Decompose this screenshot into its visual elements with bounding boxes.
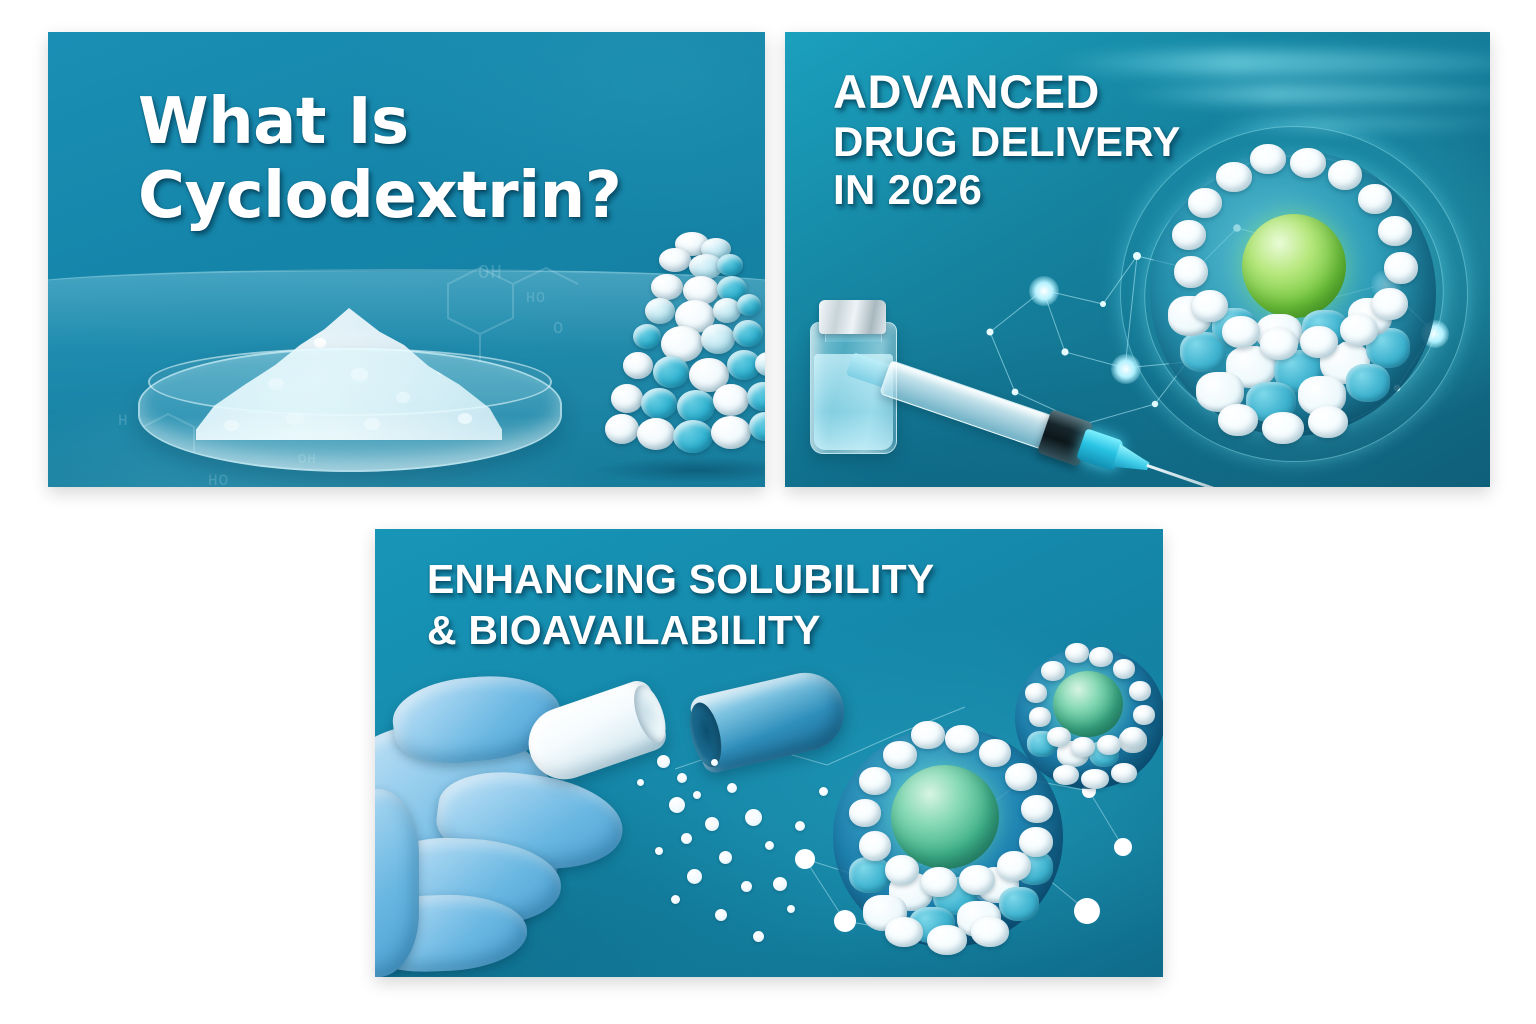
cage-rim-knob: [1021, 795, 1053, 823]
cage-rim-knob: [859, 831, 891, 861]
cage-rim-knob: [1300, 326, 1338, 358]
powder-granule: [657, 755, 670, 768]
powder-granule: [819, 787, 828, 796]
cage-rim-knob: [1121, 727, 1145, 747]
cage-rim-knob: [911, 721, 945, 749]
cage-rim-knob: [1129, 681, 1151, 701]
panel-enhancing-solubility[interactable]: ENHANCING SOLUBILITY & BIOAVAILABILITY: [375, 529, 1163, 977]
cage-base-knob: [971, 917, 1009, 947]
cage-rim-knob: [1133, 705, 1155, 725]
cage-rim-knob: [1372, 288, 1408, 320]
cage-rim-knob: [1188, 188, 1222, 218]
petri-dish: [138, 320, 558, 472]
powder-granule: [687, 869, 702, 884]
cage-base-knob: [1218, 404, 1258, 436]
cage-rim-knob: [849, 799, 881, 827]
cage-base-knob: [1111, 763, 1137, 783]
cage-rim-knob: [1172, 220, 1206, 250]
powder-granule: [669, 797, 685, 813]
green-guest-molecule: [1242, 214, 1346, 318]
cage-large-guest-molecule: [891, 765, 999, 869]
cage-rim-knob: [1328, 160, 1362, 190]
molecular-cage-small: [1015, 647, 1163, 789]
pill-pyramid: [603, 232, 765, 474]
cage-rim-knob: [1019, 827, 1053, 857]
powder-granule: [795, 821, 805, 831]
cage-rim-knob: [1174, 256, 1208, 288]
cage-rim-knob: [885, 855, 919, 885]
powder-granule: [773, 877, 787, 891]
powder-granule: [711, 759, 718, 766]
powder-granule: [719, 851, 732, 864]
cage-rim-knob: [859, 767, 891, 795]
network-node-glow-1: [1029, 276, 1059, 306]
cage-rim-knob: [1250, 144, 1286, 174]
panel-what-is-cyclodextrin[interactable]: OH HO O H OH HO: [48, 32, 765, 487]
powder-granule: [765, 841, 774, 850]
cage-rim-knob: [1358, 184, 1392, 214]
cage-rim-knob: [921, 867, 957, 897]
cage-rim-knob: [1222, 316, 1260, 348]
cage-rim-knob: [1089, 647, 1113, 667]
cage-base-knob: [1308, 406, 1348, 438]
cage-rim-knob: [1113, 659, 1135, 679]
powder-granule: [681, 833, 692, 844]
cage-rim-knob: [1192, 290, 1228, 322]
powder-granule: [693, 791, 701, 799]
powder-granule: [741, 881, 752, 892]
cage-rim-knob: [1097, 735, 1121, 755]
cage-base-knob: [1053, 765, 1079, 785]
vial-cap: [819, 300, 886, 334]
cage-rim-knob: [1041, 661, 1065, 681]
cage-rim-knob: [1071, 737, 1095, 757]
cage-base-knob: [1081, 769, 1109, 789]
cage-rim-knob: [959, 865, 995, 895]
cage-rim-knob: [1216, 162, 1252, 192]
image-collage: OH HO O H OH HO: [0, 0, 1536, 1024]
cage-rim-knob: [1029, 707, 1051, 727]
cage-rim-knob: [1260, 328, 1298, 360]
cage-base-knob: [927, 925, 967, 955]
cage-rim-knob: [1290, 148, 1326, 178]
cage-base-knob: [885, 917, 923, 947]
cage-rim-knob: [945, 725, 979, 753]
petri-dish-rim: [148, 348, 552, 416]
cage-rim-knob: [1047, 727, 1071, 747]
powder-granule: [671, 895, 680, 904]
powder-granule: [727, 783, 737, 793]
cage-base-knob: [1262, 412, 1304, 444]
cage-rim-knob: [1065, 643, 1089, 663]
powder-granule: [753, 931, 764, 942]
powder-granule: [745, 809, 762, 826]
powder-granule: [637, 779, 644, 786]
molecular-cage: [1150, 150, 1436, 436]
powder-granule: [677, 773, 687, 783]
cage-rim-knob: [979, 739, 1011, 767]
powder-granule: [655, 847, 663, 855]
cage-rim-knob: [883, 741, 917, 769]
cage-rim-knob: [1378, 216, 1412, 246]
cage-rim-knob: [1340, 314, 1378, 346]
panel-advanced-drug-delivery[interactable]: ADVANCED DRUG DELIVERY IN 2026: [785, 32, 1490, 487]
powder-granule: [705, 817, 719, 831]
powder-granule: [715, 909, 727, 921]
cage-rim-knob: [1384, 252, 1418, 284]
cage-rim-knob: [997, 851, 1031, 881]
cage-rim-knob: [1025, 683, 1047, 703]
powder-granule: [787, 905, 795, 913]
